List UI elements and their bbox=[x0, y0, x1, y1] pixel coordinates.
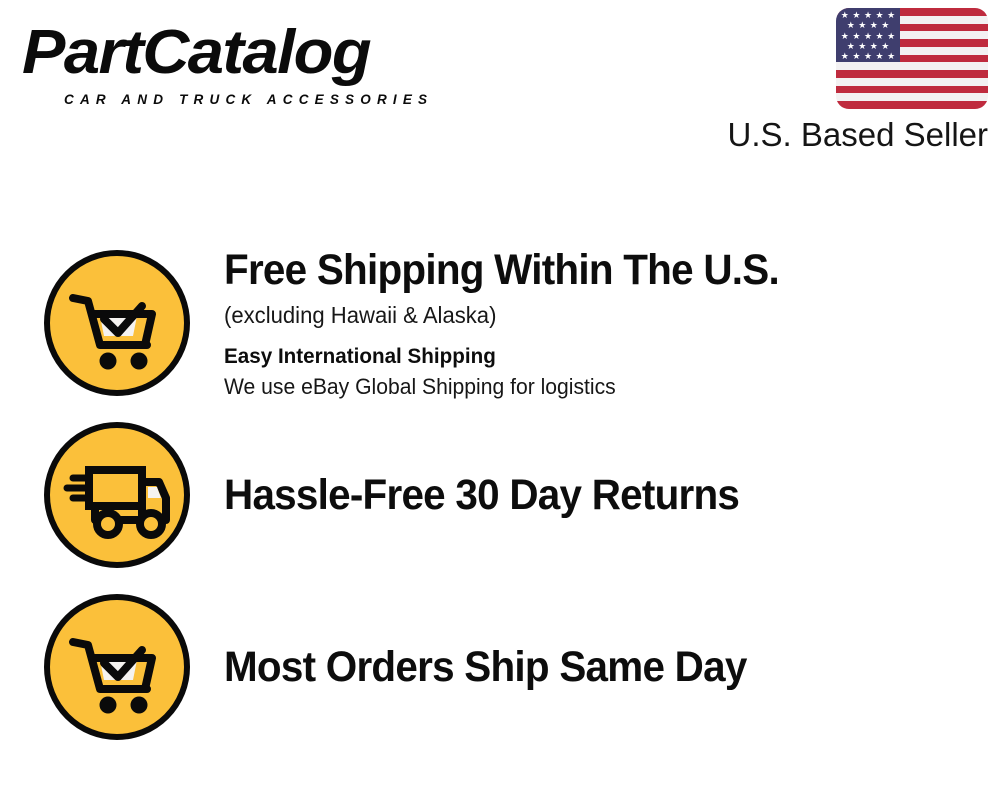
delivery-truck-icon bbox=[42, 420, 192, 570]
feature-note: (excluding Hawaii & Alaska) bbox=[224, 299, 969, 331]
feature-subheading: Easy International Shipping bbox=[224, 341, 969, 371]
feature-heading: Hassle-Free 30 Day Returns bbox=[224, 470, 953, 520]
brand-logo[interactable]: PartCatalog CAR AND TRUCK ACCESSORIES bbox=[22, 18, 492, 113]
shopping-cart-check-icon bbox=[42, 592, 192, 742]
feature-text: Most Orders Ship Same Day bbox=[224, 642, 1000, 692]
feature-subtext: We use eBay Global Shipping for logistic… bbox=[224, 372, 969, 402]
brand-wordmark: PartCatalog bbox=[22, 18, 516, 88]
feature-list: Free Shipping Within The U.S. (excluding… bbox=[0, 170, 1000, 800]
feature-row: Hassle-Free 30 Day Returns bbox=[0, 420, 1000, 570]
shopping-cart-check-icon bbox=[42, 248, 192, 398]
flag-canton: ★★★★★ ★★★★ ★★★★★ ★★★★ ★★★★★ bbox=[836, 8, 900, 62]
us-based-seller-badge: ★★★★★ ★★★★ ★★★★★ ★★★★ ★★★★★ U.S. Based S… bbox=[708, 8, 988, 155]
feature-heading: Free Shipping Within The U.S. bbox=[224, 245, 953, 295]
page-header: PartCatalog CAR AND TRUCK ACCESSORIES ★★… bbox=[0, 0, 1000, 170]
feature-text: Hassle-Free 30 Day Returns bbox=[224, 470, 1000, 520]
brand-tagline: CAR AND TRUCK ACCESSORIES bbox=[64, 92, 433, 107]
feature-row: Most Orders Ship Same Day bbox=[0, 592, 1000, 742]
us-flag-icon: ★★★★★ ★★★★ ★★★★★ ★★★★ ★★★★★ bbox=[836, 8, 988, 109]
feature-heading: Most Orders Ship Same Day bbox=[224, 642, 953, 692]
seller-label: U.S. Based Seller bbox=[708, 115, 988, 155]
feature-row: Free Shipping Within The U.S. (excluding… bbox=[0, 248, 1000, 398]
feature-text: Free Shipping Within The U.S. (excluding… bbox=[224, 245, 1000, 402]
